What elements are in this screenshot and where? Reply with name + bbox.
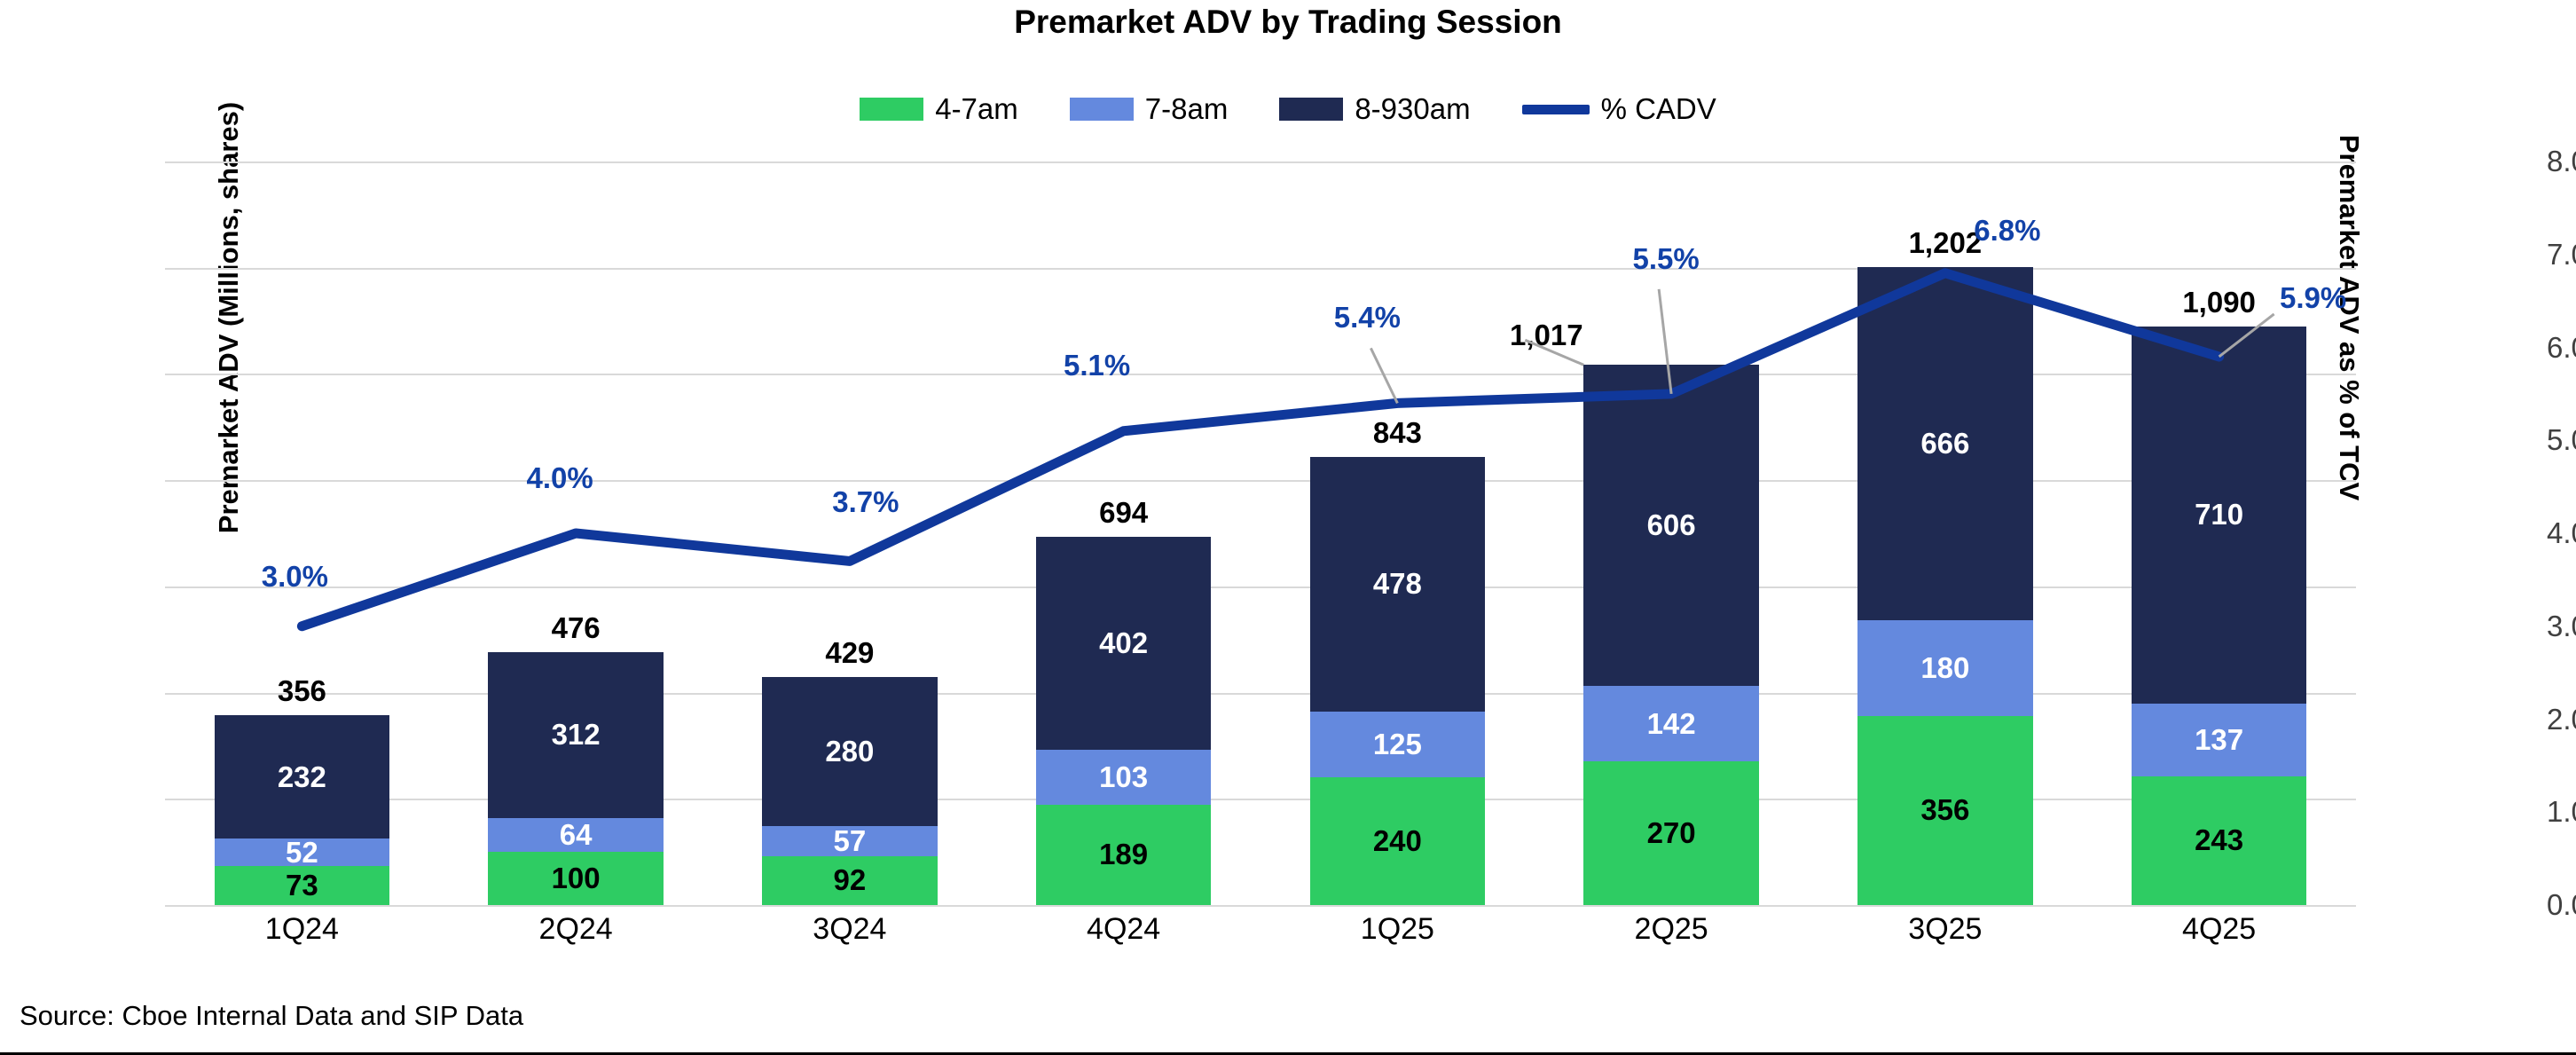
y-axis-right-tick: 7.0% [2547,238,2576,272]
bar-column[interactable]: 9257280 [762,677,938,905]
bar-segment-7-8am[interactable]: 137 [2132,704,2307,776]
bar-segment-7-8am[interactable]: 103 [1036,750,1212,805]
bar-segment-8-930am[interactable]: 402 [1036,537,1212,751]
bar-column[interactable]: 243137710 [2132,327,2307,905]
bar-column[interactable]: 240125478 [1310,457,1486,905]
legend-label: % CADV [1601,92,1716,126]
y-axis-right-tick: 4.0% [2547,516,2576,550]
bar-column[interactable]: 270142606 [1583,365,1759,905]
bar-segment-7-8am[interactable]: 125 [1310,712,1486,778]
legend-swatch-green-icon [860,98,923,121]
x-axis-tick-4Q24: 4Q24 [1087,912,1160,947]
bar-total-label: 356 [278,674,326,708]
bar-column[interactable]: 356180666 [1857,267,2033,905]
legend-label: 4-7am [935,92,1018,126]
x-axis-tick-2Q24: 2Q24 [539,912,613,947]
legend-item-7-8am[interactable]: 7-8am [1070,92,1229,126]
y-axis-right-tick: 5.0% [2547,423,2576,457]
x-axis-tick-3Q25: 3Q25 [1908,912,1982,947]
bar-total-label: 429 [825,636,874,670]
y-axis-right-tick: 0.0% [2547,888,2576,922]
bar-total-label: 1,202 [1909,226,1983,260]
bar-segment-8-930am[interactable]: 232 [215,715,390,838]
page-title: Premarket ADV by Trading Session [0,4,2576,41]
y-axis-right-tick: 6.0% [2547,331,2576,365]
y-axis-right-tick: 3.0% [2547,610,2576,643]
legend-label: 7-8am [1145,92,1229,126]
bar-segment-4-7am[interactable]: 100 [488,852,664,905]
bar-segment-4-7am[interactable]: 356 [1857,716,2033,905]
bar-total-label: 843 [1373,416,1422,450]
bar-segment-7-8am[interactable]: 180 [1857,620,2033,716]
bar-segment-7-8am[interactable]: 64 [488,818,664,852]
bar-segment-8-930am[interactable]: 666 [1857,267,2033,621]
bar-segment-7-8am[interactable]: 57 [762,826,938,856]
bar-segment-4-7am[interactable]: 270 [1583,761,1759,905]
x-axis-tick-1Q24: 1Q24 [265,912,339,947]
bar-segment-4-7am[interactable]: 92 [762,856,938,905]
bar-segment-8-930am[interactable]: 710 [2132,327,2307,704]
y-axis-right-tick: 1.0% [2547,795,2576,829]
bar-total-label: 694 [1099,496,1148,530]
bar-segment-8-930am[interactable]: 478 [1310,457,1486,711]
x-axis-tick-4Q25: 4Q25 [2182,912,2256,947]
bar-segment-7-8am[interactable]: 52 [215,838,390,866]
y-axis-right-tick: 2.0% [2547,703,2576,736]
bar-segment-8-930am[interactable]: 280 [762,677,938,826]
bar-segment-7-8am[interactable]: 142 [1583,686,1759,761]
y-axis-right-tick: 8.0% [2547,145,2576,178]
bar-column[interactable]: 7352232 [215,715,390,905]
bar-segment-8-930am[interactable]: 312 [488,652,664,818]
legend-item-pct-cadv[interactable]: % CADV [1522,92,1716,126]
legend-swatch-blue-icon [1070,98,1134,121]
chart-legend: 4-7am 7-8am 8-930am % CADV [0,92,2576,126]
legend-label: 8-930am [1355,92,1470,126]
bar-segment-4-7am[interactable]: 189 [1036,805,1212,905]
bar-column[interactable]: 10064312 [488,652,664,905]
legend-line-icon [1522,105,1590,114]
bar-segment-4-7am[interactable]: 240 [1310,777,1486,905]
bar-total-label: 1,090 [2182,286,2256,319]
bars-layer: 7352232356100643124769257280429189103402… [165,161,2356,905]
x-axis-tick-1Q25: 1Q25 [1361,912,1434,947]
bar-column[interactable]: 189103402 [1036,537,1212,905]
legend-item-8-930am[interactable]: 8-930am [1279,92,1470,126]
bar-segment-4-7am[interactable]: 73 [215,866,390,905]
x-axis-tick-3Q24: 3Q24 [813,912,886,947]
legend-item-4-7am[interactable]: 4-7am [860,92,1018,126]
x-axis-tick-2Q25: 2Q25 [1635,912,1708,947]
source-note: Source: Cboe Internal Data and SIP Data [20,1000,523,1032]
x-axis: 1Q242Q243Q244Q241Q252Q253Q254Q25 [165,912,2356,965]
bar-total-label: 1,017 [1510,319,1583,352]
bar-total-label: 476 [552,611,601,645]
legend-swatch-navy-icon [1279,98,1343,121]
bar-segment-4-7am[interactable]: 243 [2132,776,2307,905]
gridline [165,905,2356,907]
bar-segment-8-930am[interactable]: 606 [1583,365,1759,687]
